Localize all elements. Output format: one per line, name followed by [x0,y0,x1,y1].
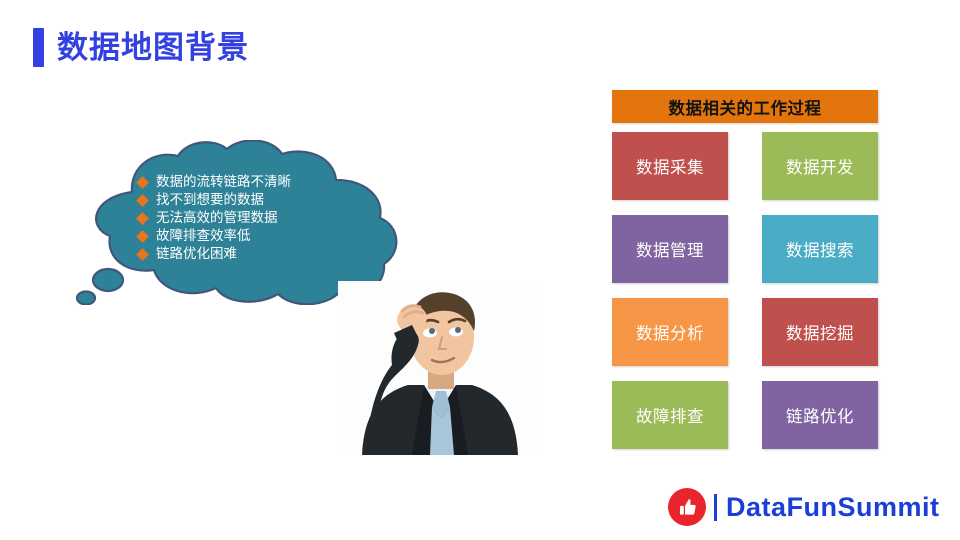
process-tile-label: 数据搜索 [786,237,854,261]
process-tile-label: 数据开发 [786,154,854,178]
process-tile-grid: 数据采集 数据开发 数据管理 数据搜索 数据分析 数据挖掘 故障排查 链路优化 [612,132,878,449]
process-tile-label: 数据分析 [636,320,704,344]
process-tile-data-management[interactable]: 数据管理 [612,215,728,283]
list-item: 故障排查效率低 [138,227,403,245]
process-tile-data-collection[interactable]: 数据采集 [612,132,728,200]
process-tile-data-search[interactable]: 数据搜索 [762,215,878,283]
diamond-bullet-icon [136,248,149,261]
photo-illustration [338,281,542,455]
process-tile-label: 链路优化 [786,403,854,427]
process-panel: 数据相关的工作过程 数据采集 数据开发 数据管理 数据搜索 数据分析 数据挖掘 … [612,90,878,449]
process-tile-label: 数据采集 [636,154,704,178]
thumbs-up-icon [677,497,698,518]
list-item-label: 数据的流转链路不清晰 [156,173,291,191]
diamond-bullet-icon [136,212,149,225]
process-tile-fault-troubleshooting[interactable]: 故障排查 [612,381,728,449]
datafunsummit-logo: DataFunSummit [668,488,940,526]
cloud-bullet-list: 数据的流转链路不清晰 找不到想要的数据 无法高效的管理数据 故障排查效率低 链路… [138,173,403,263]
logo-divider-bar [714,494,717,521]
process-tile-label: 数据挖掘 [786,320,854,344]
list-item-label: 无法高效的管理数据 [156,209,278,227]
diamond-bullet-icon [136,194,149,207]
process-tile-data-development[interactable]: 数据开发 [762,132,878,200]
title-accent-bar [33,28,44,67]
process-tile-data-analysis[interactable]: 数据分析 [612,298,728,366]
list-item: 无法高效的管理数据 [138,209,403,227]
list-item: 数据的流转链路不清晰 [138,173,403,191]
logo-text: DataFunSummit [726,492,940,522]
list-item-label: 链路优化困难 [156,245,237,263]
confused-businessman-photo [338,281,542,455]
process-panel-header: 数据相关的工作过程 [612,90,878,123]
list-item: 找不到想要的数据 [138,191,403,209]
process-tile-label: 故障排查 [636,403,704,427]
page-title-row: 数据地图背景 [33,28,249,67]
process-tile-label: 数据管理 [636,237,704,261]
list-item: 链路优化困难 [138,245,403,263]
list-item-label: 找不到想要的数据 [156,191,264,209]
logo-mark [668,488,706,526]
process-tile-data-mining[interactable]: 数据挖掘 [762,298,878,366]
diamond-bullet-icon [136,230,149,243]
list-item-label: 故障排查效率低 [156,227,251,245]
process-tile-link-optimization[interactable]: 链路优化 [762,381,878,449]
page-title: 数据地图背景 [57,28,249,67]
diamond-bullet-icon [136,176,149,189]
slide-canvas: 数据地图背景 数据的流转链路不清晰 找不到想要的数据 无法高效的管理数据 [0,0,960,540]
